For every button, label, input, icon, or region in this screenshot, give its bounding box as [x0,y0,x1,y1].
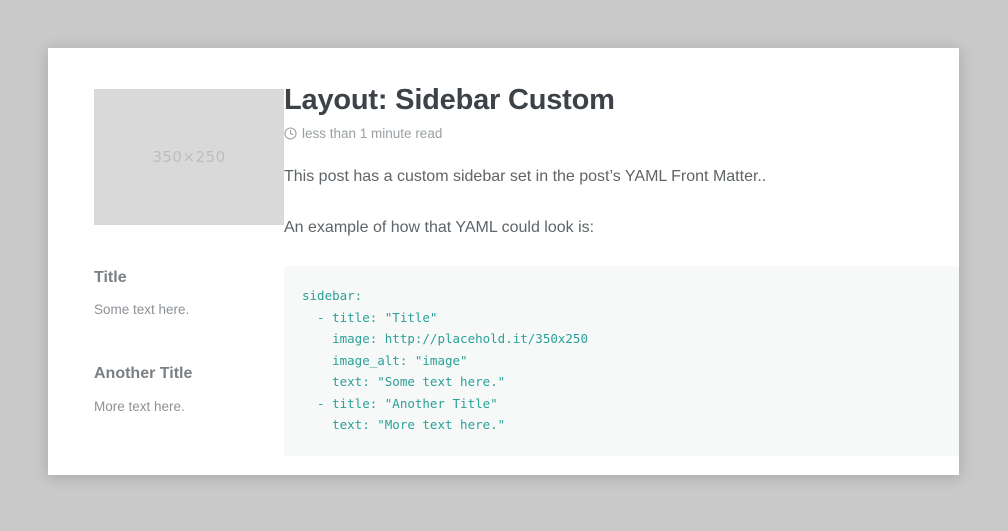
sidebar-section-title: Title [94,268,284,287]
sidebar-section-another-title: Another Title [94,364,284,383]
code-line: image_alt: "image" [302,350,939,372]
code-block-yaml: sidebar: - title: "Title" image: http://… [284,266,959,456]
content-layout: 350×250 Title Some text here. Another Ti… [48,48,959,456]
sidebar: 350×250 Title Some text here. Another Ti… [48,48,284,417]
code-line: sidebar: [302,285,939,307]
main-content: Layout: Sidebar Custom less than 1 minut… [284,48,959,456]
post-meta: less than 1 minute read [284,126,959,141]
post-paragraph-2: An example of how that YAML could look i… [284,216,959,240]
sidebar-heading-title: Title [94,268,284,287]
page-title: Layout: Sidebar Custom [284,84,959,117]
sidebar-text-another-title: More text here. [94,398,284,417]
code-line: - title: "Another Title" [302,393,939,415]
post-paragraph-1: This post has a custom sidebar set in th… [284,165,959,189]
sidebar-text-title: Some text here. [94,301,284,320]
sidebar-image-label: 350×250 [152,148,225,166]
sidebar-image-placeholder: 350×250 [94,89,284,225]
clock-icon [284,127,297,140]
code-line: text: "Some text here." [302,371,939,393]
code-line: image: http://placehold.it/350x250 [302,328,939,350]
page-card: 350×250 Title Some text here. Another Ti… [48,48,959,475]
read-time-label: less than 1 minute read [302,126,442,141]
code-line: text: "More text here." [302,414,939,436]
sidebar-heading-another-title: Another Title [94,364,284,383]
code-line: - title: "Title" [302,307,939,329]
